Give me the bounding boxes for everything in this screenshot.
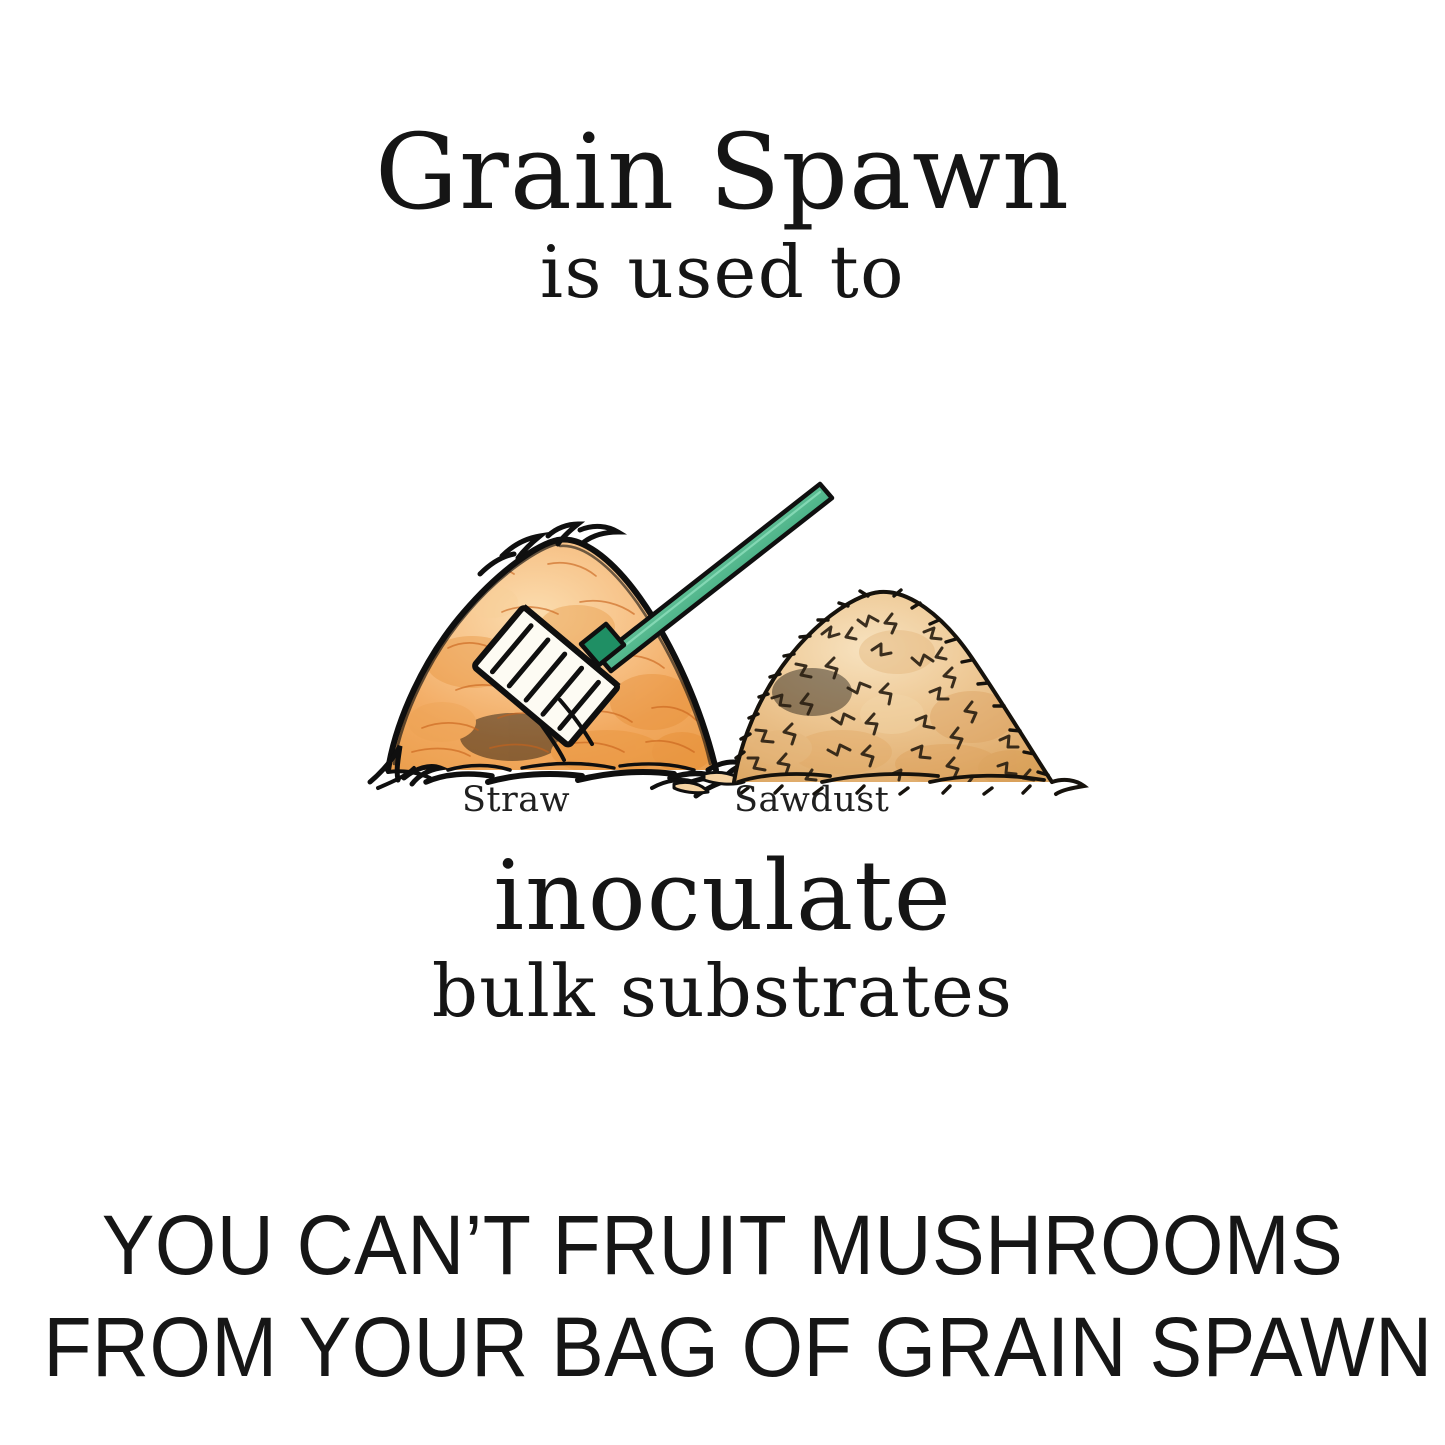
- rake-handle: [599, 484, 832, 671]
- caption-line-1: YOU CAN’T FRUIT MUSHROOMS: [43, 1195, 1401, 1297]
- headline-block: Grain Spawn is used to: [0, 118, 1445, 313]
- sawdust-pile: [734, 590, 1084, 794]
- page-title: Grain Spawn: [0, 118, 1445, 226]
- action-object: bulk substrates: [0, 952, 1445, 1031]
- caption-block: YOU CAN’T FRUIT MUSHROOMS FROM YOUR BAG …: [0, 1195, 1445, 1398]
- caption-line-2: FROM YOUR BAG OF GRAIN SPAWN: [43, 1297, 1401, 1399]
- headline-subtitle: is used to: [0, 232, 1445, 313]
- action-verb: inoculate: [0, 846, 1445, 948]
- pile-label-sawdust: Sawdust: [734, 780, 889, 820]
- action-block: inoculate bulk substrates: [0, 846, 1445, 1031]
- pile-label-straw: Straw: [462, 780, 570, 820]
- infographic-canvas: Grain Spawn is used to: [0, 0, 1445, 1445]
- pile-labels: Straw Sawdust: [352, 780, 1092, 826]
